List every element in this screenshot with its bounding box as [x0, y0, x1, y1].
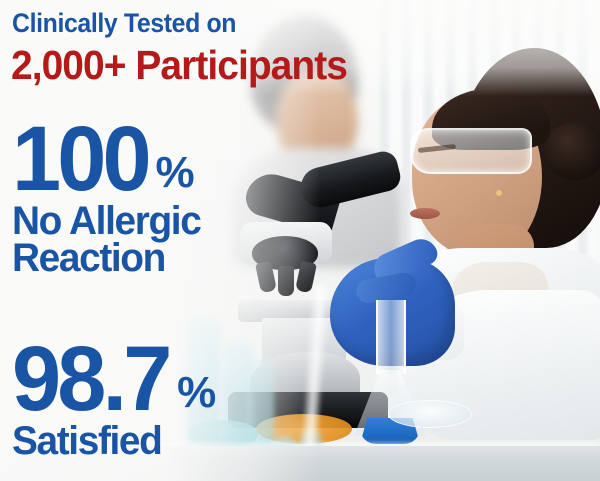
- headline-eyebrow: Clinically Tested on: [12, 8, 236, 39]
- stat-value: 98.7: [12, 338, 169, 421]
- stat-value-row: 98.7 %: [12, 338, 216, 421]
- stat-value-row: 100 %: [12, 118, 206, 201]
- stat-label-line-2: Reaction: [12, 238, 200, 278]
- copy-layer: Clinically Tested on 2,000+ Participants…: [0, 0, 600, 481]
- clinical-results-poster: Clinically Tested on 2,000+ Participants…: [0, 0, 600, 481]
- stat-unit: %: [177, 373, 216, 413]
- stat-block-allergic-reaction: 100 % No Allergic Reaction: [12, 118, 206, 278]
- headline-emphasis: 2,000+ Participants: [11, 42, 347, 89]
- stat-unit: %: [156, 153, 195, 193]
- stat-label-line-1: Satisfied: [12, 421, 210, 461]
- stat-value: 100: [12, 118, 148, 201]
- stat-block-satisfied: 98.7 % Satisfied: [12, 338, 216, 461]
- stat-label-line-1: No Allergic: [12, 201, 200, 241]
